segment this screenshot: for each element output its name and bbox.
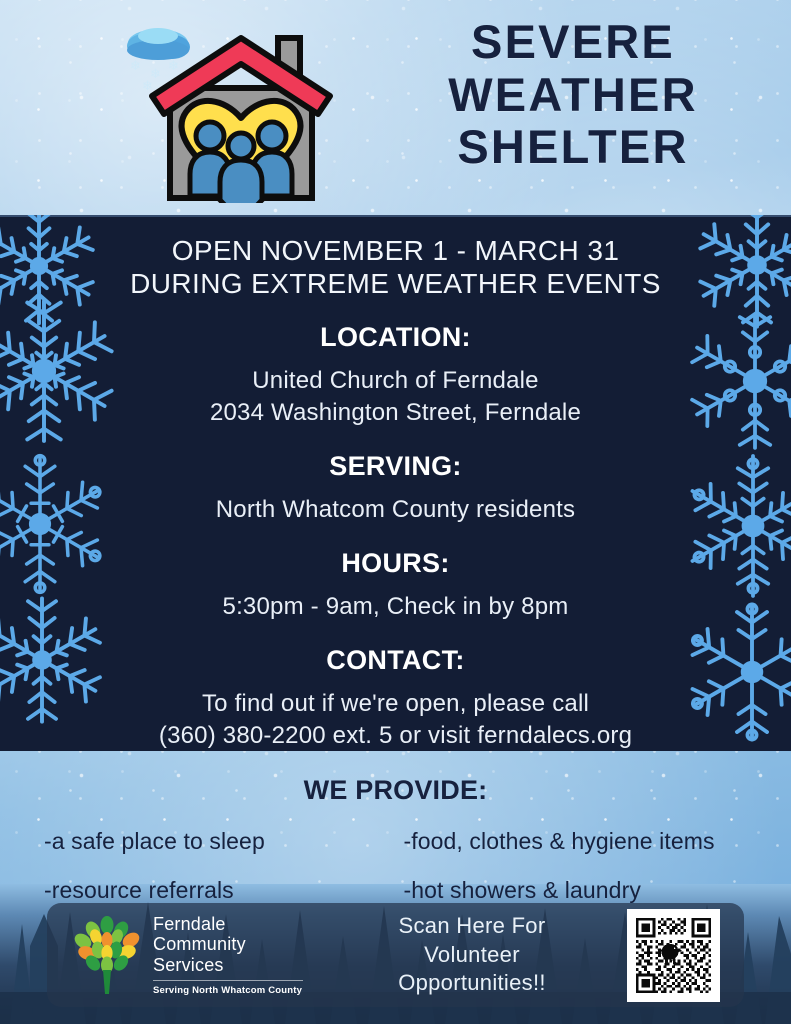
footer-card: Ferndale Community Services Serving Nort… — [47, 903, 744, 1007]
location-heading: LOCATION: — [0, 322, 791, 353]
fcs-logo-text: Ferndale Community Services Serving Nort… — [143, 914, 303, 995]
page-title: SEVERE WEATHER SHELTER — [368, 16, 778, 174]
info-band-content: OPEN NOVEMBER 1 - MARCH 31 DURING EXTREM… — [0, 215, 791, 751]
info-band: OPEN NOVEMBER 1 - MARCH 31 DURING EXTREM… — [0, 215, 791, 751]
house-heart-family-icon: ❄❄❄ ❄❄ — [118, 18, 368, 203]
serving-line-1: North Whatcom County residents — [0, 494, 791, 526]
org-name-line-3: Services — [153, 955, 303, 975]
scan-line-1: Scan Here For — [337, 912, 607, 941]
scan-line-2: Volunteer — [337, 941, 607, 970]
svg-text:❄: ❄ — [168, 59, 179, 74]
scan-prompt: Scan Here For Volunteer Opportunities!! — [337, 912, 627, 998]
org-tagline: Serving North Whatcom County — [153, 985, 303, 996]
svg-text:❄: ❄ — [130, 59, 141, 74]
poster-root: ❄❄❄ ❄❄ — [0, 0, 791, 1024]
tree-leaves-icon — [71, 916, 143, 994]
provide-item: -resource referrals — [44, 877, 396, 904]
hours-line-1: 5:30pm - 9am, Check in by 8pm — [0, 591, 791, 623]
title-line-2: WEATHER — [368, 69, 778, 122]
fcs-logo: Ferndale Community Services Serving Nort… — [47, 914, 337, 995]
hours-heading: HOURS: — [0, 548, 791, 579]
provide-item: -hot showers & laundry — [396, 877, 748, 904]
location-line-2: 2034 Washington Street, Ferndale — [0, 397, 791, 429]
shelter-logo: ❄❄❄ ❄❄ — [118, 18, 368, 203]
provide-item: -a safe place to sleep — [44, 828, 396, 855]
contact-line-1: To find out if we're open, please call — [0, 688, 791, 720]
org-name-line-1: Ferndale — [153, 914, 303, 934]
provide-item: -food, clothes & hygiene items — [396, 828, 748, 855]
contact-line-2: (360) 380-2200 ext. 5 or visit ferndalec… — [0, 720, 791, 751]
serving-heading: SERVING: — [0, 451, 791, 482]
contact-heading: CONTACT: — [0, 645, 791, 676]
open-dates-line-1: OPEN NOVEMBER 1 - MARCH 31 — [0, 234, 791, 267]
org-name-line-2: Community — [153, 934, 303, 954]
we-provide-section: WE PROVIDE: -a safe place to sleep -food… — [0, 751, 791, 901]
location-line-1: United Church of Ferndale — [0, 365, 791, 397]
svg-text:❄: ❄ — [142, 79, 153, 94]
title-line-1: SEVERE — [368, 16, 778, 69]
we-provide-title: WE PROVIDE: — [0, 775, 791, 806]
scan-line-3: Opportunities!! — [337, 969, 607, 998]
title-line-3: SHELTER — [368, 121, 778, 174]
divider — [153, 980, 303, 981]
we-provide-list: -a safe place to sleep -food, clothes & … — [0, 828, 791, 904]
header: ❄❄❄ ❄❄ — [0, 0, 791, 215]
open-dates-line-2: DURING EXTREME WEATHER EVENTS — [0, 267, 791, 300]
qr-code-dinosaur-icon[interactable] — [627, 909, 720, 1002]
